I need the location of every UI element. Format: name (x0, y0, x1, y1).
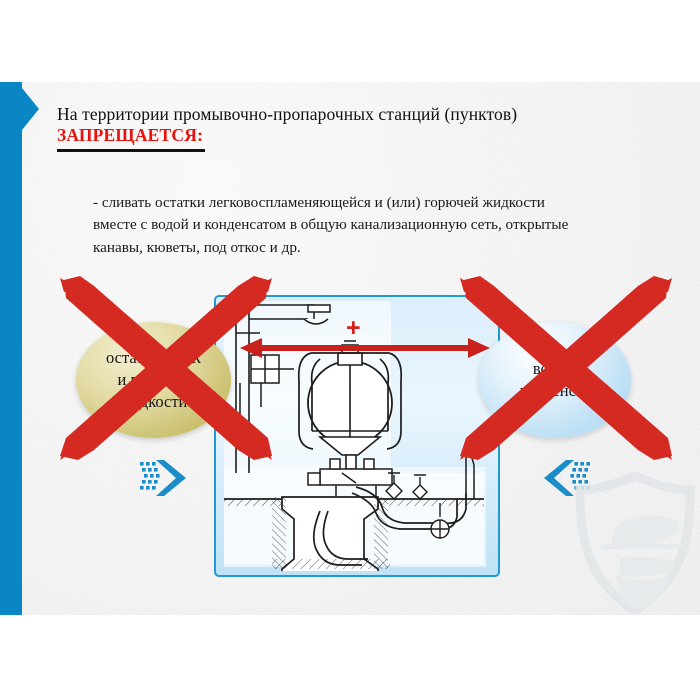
plus-symbol: + (346, 316, 361, 341)
slide-canvas: На территории промывочно-пропарочных ста… (0, 0, 700, 700)
left-circle-text: остатки ЛВЖ и горючей жидкости (100, 347, 207, 414)
body-paragraph: - сливать остатки легковоспламеняющейся … (93, 192, 591, 259)
right-circle-line2: конденсат (520, 380, 590, 402)
right-substance-circle: вода и конденсат (479, 322, 631, 438)
right-circle-line1: вода и (520, 358, 590, 380)
prohibition-label: ЗАПРЕЩАЕТСЯ: (57, 125, 203, 147)
page-title: На территории промывочно-пропарочных ста… (57, 104, 667, 125)
heading-underline (57, 149, 205, 152)
left-circle-line3: жидкости (106, 391, 201, 413)
left-substance-circle: остатки ЛВЖ и горючей жидкости (76, 322, 231, 438)
left-circle-line1: остатки ЛВЖ (106, 347, 201, 369)
shield-emblem-watermark-icon (572, 472, 698, 615)
exchange-arrow: + (240, 318, 490, 360)
ribbon-arrow-point (22, 88, 39, 130)
right-circle-text: вода и конденсат (514, 358, 596, 403)
heading-block: На территории промывочно-пропарочных ста… (57, 104, 667, 152)
left-circle-line2: и горючей (106, 369, 201, 391)
left-accent-ribbon (0, 82, 22, 615)
chevron-right-dotted-icon (138, 458, 190, 498)
double-arrow-icon (240, 318, 490, 360)
